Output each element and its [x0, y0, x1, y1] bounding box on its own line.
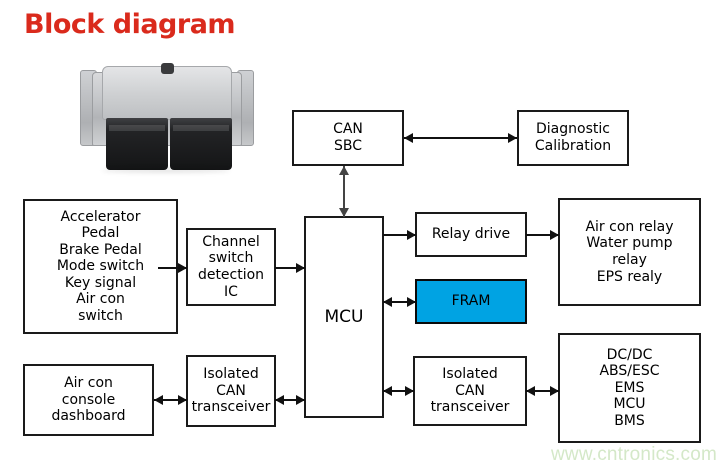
block-fram[interactable]: FRAM	[415, 279, 527, 324]
ecu-vent-nub	[161, 63, 174, 74]
block-relay-drive[interactable]: Relay drive	[415, 212, 527, 257]
block-fram-label: FRAM	[449, 293, 494, 310]
block-mcu[interactable]: MCU	[304, 216, 384, 418]
arrow-can-sbc-to-mcu	[336, 166, 352, 217]
site-watermark: www.cntronics.com	[551, 444, 717, 466]
ecu-connector-left	[106, 118, 168, 170]
block-can-sbc[interactable]: CANSBC	[292, 110, 404, 166]
block-relay-drive-label: Relay drive	[429, 226, 513, 243]
page-title: Block diagram	[24, 9, 235, 40]
arrow-can-sbc-to-diagnostic	[404, 130, 517, 146]
block-ecu-nodes-label: DC/DCABS/ESCEMSMCUBMS	[596, 347, 662, 430]
block-inputs[interactable]: AcceleratorPedalBrake PedalMode switchKe…	[23, 199, 178, 334]
block-relays-label: Air con relayWater pumprelayEPS realy	[582, 219, 676, 285]
block-inputs-label: AcceleratorPedalBrake PedalMode switchKe…	[54, 209, 147, 325]
block-can-sbc-label: CANSBC	[330, 121, 366, 154]
block-channel-switch-detection-ic[interactable]: ChannelswitchdetectionIC	[186, 228, 276, 306]
ecu-lid	[102, 66, 232, 120]
arrow-mcu-to-isolated-can-right	[383, 383, 414, 399]
ecu-module-image	[78, 58, 254, 176]
block-isolated-can-transceiver-left[interactable]: IsolatedCANtransceiver	[186, 355, 276, 427]
arrow-mcu-to-fram	[383, 294, 416, 310]
block-isolated-can-transceiver-left-label: IsolatedCANtransceiver	[189, 366, 274, 416]
arrow-isolated-can-right-to-ecu-nodes	[526, 383, 559, 399]
block-diagnostic-calibration-label: DiagnosticCalibration	[532, 121, 614, 154]
block-diagram-page: Block diagram CANSBC DiagnosticCalibrati…	[0, 0, 727, 471]
block-dashboard-label: Air conconsoledashboard	[48, 375, 128, 425]
arrow-mcu-to-relay-drive	[383, 227, 416, 243]
block-mcu-label: MCU	[322, 307, 367, 327]
block-ecu-nodes[interactable]: DC/DCABS/ESCEMSMCUBMS	[558, 333, 701, 443]
block-diagnostic-calibration[interactable]: DiagnosticCalibration	[517, 110, 629, 166]
ecu-shadow	[102, 168, 230, 173]
block-isolated-can-transceiver-right-label: IsolatedCANtransceiver	[428, 366, 513, 416]
block-channel-switch-detection-ic-label: ChannelswitchdetectionIC	[195, 234, 267, 300]
block-dashboard[interactable]: Air conconsoledashboard	[23, 364, 154, 436]
arrow-inputs-to-channel-switch-ic	[158, 260, 187, 276]
arrow-isolated-can-left-to-mcu	[275, 392, 305, 408]
arrow-dashboard-to-isolated-can-left	[154, 392, 187, 408]
ecu-connector-right	[170, 118, 232, 170]
block-relays[interactable]: Air con relayWater pumprelayEPS realy	[558, 198, 701, 306]
block-isolated-can-transceiver-right[interactable]: IsolatedCANtransceiver	[413, 356, 527, 426]
arrow-channel-switch-ic-to-mcu	[275, 260, 305, 276]
arrow-relay-drive-to-relays	[526, 227, 559, 243]
